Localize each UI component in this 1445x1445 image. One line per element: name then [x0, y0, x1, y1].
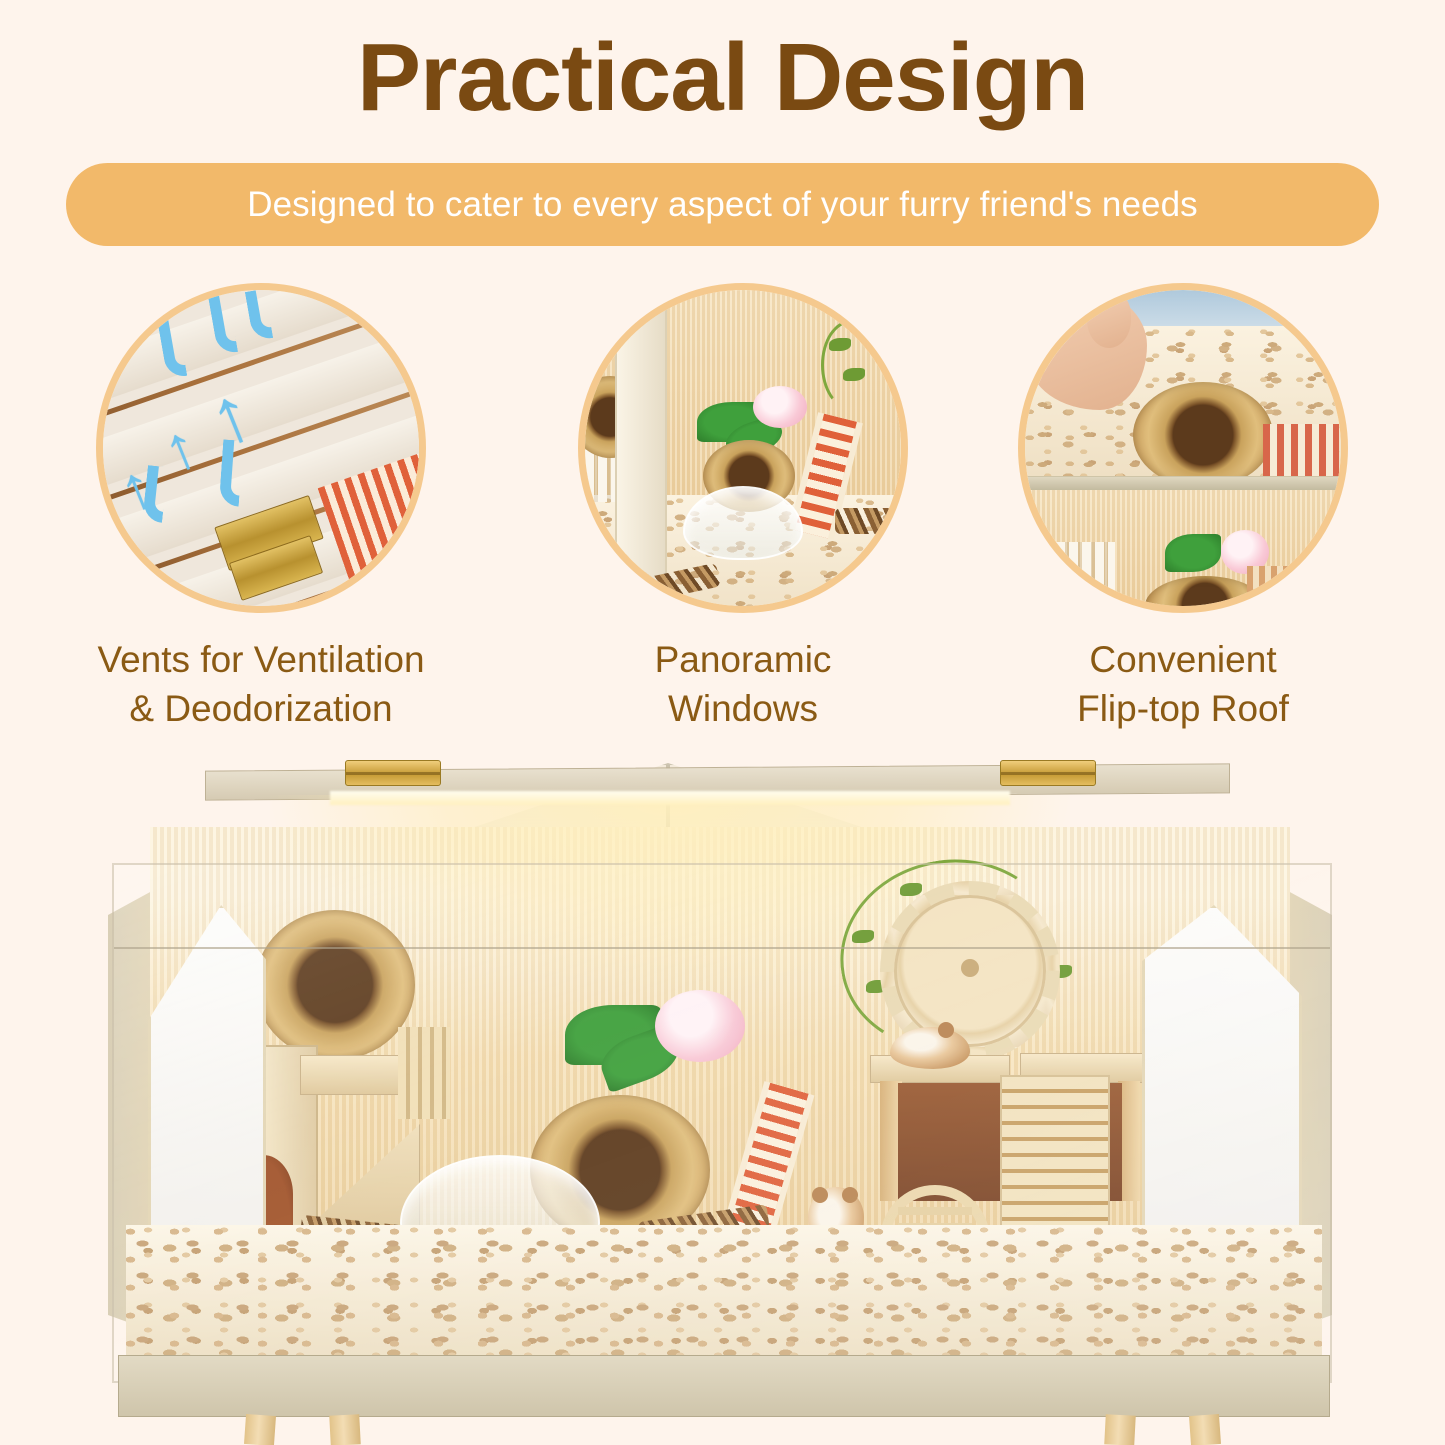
cage-base-frame	[118, 1355, 1330, 1417]
red-rung-ladder	[1263, 424, 1339, 476]
product-photo	[0, 755, 1445, 1445]
feature-row: ↑ ↑ ↑ Vents for Ventilation & Deodorizat…	[0, 283, 1445, 743]
feature-flip-top-roof-caption: Convenient Flip-top Roof	[1018, 635, 1348, 733]
glass-divider-panel	[615, 294, 667, 606]
page-title: Practical Design	[0, 24, 1445, 132]
feature-ventilation-caption: Vents for Ventilation & Deodorization	[96, 635, 426, 733]
brass-hinge-icon	[345, 760, 441, 786]
acrylic-seam	[114, 947, 1330, 949]
feature-ventilation[interactable]: ↑ ↑ ↑ Vents for Ventilation & Deodorizat…	[96, 283, 426, 733]
feature-panoramic-windows[interactable]: Panoramic Windows	[578, 283, 908, 733]
pink-flower	[753, 386, 807, 428]
feature-panoramic-windows-image	[578, 283, 908, 613]
hamster-ear	[938, 1022, 954, 1038]
wood-fence-lower	[1247, 566, 1305, 606]
subtitle-banner: Designed to cater to every aspect of you…	[66, 163, 1379, 246]
feature-panoramic-windows-caption: Panoramic Windows	[578, 635, 908, 733]
straw-nest-upper-left	[255, 910, 415, 1060]
wood-fence-rail	[398, 1027, 450, 1119]
bedding-layer	[126, 1225, 1322, 1360]
cage-leg	[244, 1414, 276, 1445]
brass-hinge-icon	[1000, 760, 1096, 786]
hamster-ear	[842, 1187, 858, 1203]
hamster-on-platform	[890, 1027, 970, 1069]
straw-nest-large	[1133, 382, 1273, 488]
vine-leaf	[852, 930, 874, 943]
led-strip-light	[330, 791, 1010, 805]
hand-finger	[1087, 292, 1131, 348]
cage-leg	[329, 1414, 361, 1445]
pink-flower	[655, 990, 745, 1062]
vine-leaf	[829, 338, 851, 351]
vine-leaf	[900, 883, 922, 896]
cage-leg	[1104, 1414, 1136, 1445]
subtitle-text: Designed to cater to every aspect of you…	[247, 185, 1198, 225]
cage-leg	[1189, 1414, 1221, 1445]
chew-twigs	[835, 508, 901, 534]
greenery-vine	[821, 320, 881, 410]
picket-fence	[1043, 542, 1115, 592]
hamster-ear	[812, 1187, 828, 1203]
feature-ventilation-image: ↑ ↑ ↑	[96, 283, 426, 613]
feature-flip-top-roof-image	[1018, 283, 1348, 613]
wheel-hub	[961, 959, 979, 977]
vine-leaf	[843, 368, 865, 381]
green-leaf	[1165, 534, 1221, 572]
feature-flip-top-roof[interactable]: Convenient Flip-top Roof	[1018, 283, 1348, 733]
